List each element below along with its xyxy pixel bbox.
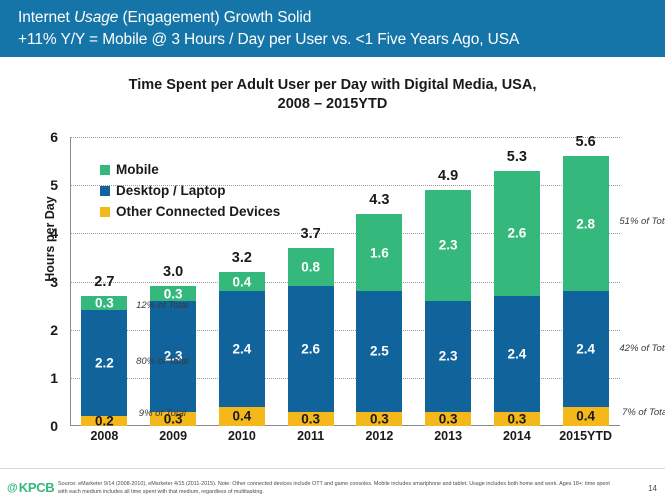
kpcb-wordmark: KPCB	[19, 480, 55, 495]
bar-segment-mobile[interactable]: 2.3	[425, 190, 471, 301]
bar-segment-other[interactable]: 0.3	[288, 412, 334, 426]
x-axis-tick-label: 2012	[344, 429, 414, 443]
legend-swatch-other-icon	[100, 207, 110, 217]
bar-segment-other[interactable]: 0.4	[219, 407, 265, 426]
chart-legend: Mobile Desktop / Laptop Other Connected …	[100, 159, 280, 222]
bar-segment-value: 2.4	[494, 347, 540, 361]
x-axis-tick-label: 2015YTD	[551, 429, 621, 443]
legend-swatch-desktop-icon	[100, 186, 110, 196]
bar-segment-mobile[interactable]: 2.8	[563, 156, 609, 291]
bar-total-label: 2.7	[69, 274, 139, 290]
bar-group[interactable]: 2.62.40.3	[494, 171, 540, 426]
source-footnote: Source: eMarketer 9/14 (2008-2010), eMar…	[58, 480, 614, 496]
bar-segment-desktop[interactable]: 2.4	[219, 291, 265, 407]
bar-total-label: 4.9	[413, 168, 483, 184]
annotation-left: 12% of Total	[131, 300, 193, 311]
bar-segment-value: 2.3	[425, 349, 471, 363]
page-number: 14	[648, 484, 657, 493]
x-axis-tick-label: 2009	[138, 429, 208, 443]
bar-segment-mobile[interactable]: 0.4	[219, 272, 265, 291]
bar-segment-value: 0.4	[219, 410, 265, 424]
bar-group[interactable]: 0.32.20.2	[81, 296, 127, 426]
legend-label-other: Other Connected Devices	[116, 204, 280, 219]
y-axis-tick-label: 6	[38, 129, 58, 145]
bar-segment-mobile[interactable]: 0.3	[81, 296, 127, 310]
legend-item-other: Other Connected Devices	[100, 201, 280, 222]
bar-total-label: 5.3	[482, 149, 552, 165]
y-axis-tick-label: 0	[38, 418, 58, 434]
bar-segment-other[interactable]: 0.3	[356, 412, 402, 426]
bar-segment-value: 2.6	[288, 342, 334, 356]
header-line-2: +11% Y/Y = Mobile @ 3 Hours / Day per Us…	[18, 29, 665, 51]
at-symbol-icon: @	[7, 482, 18, 494]
legend-item-mobile: Mobile	[100, 159, 280, 180]
y-axis-tick-label: 3	[38, 274, 58, 290]
footer-divider	[0, 468, 665, 469]
chart-title-line-2: 2008 – 2015YTD	[0, 95, 665, 114]
bar-segment-value: 2.3	[425, 239, 471, 253]
bar-segment-value: 2.4	[563, 342, 609, 356]
x-axis-tick-label: 2011	[276, 429, 346, 443]
bar-segment-desktop[interactable]: 2.6	[288, 286, 334, 411]
gridline	[70, 137, 620, 138]
x-axis-tick-label: 2013	[413, 429, 483, 443]
bar-total-label: 3.0	[138, 264, 208, 280]
y-axis-tick-label: 1	[38, 370, 58, 386]
bar-group[interactable]: 2.82.40.4	[563, 156, 609, 426]
bar-total-label: 5.6	[551, 134, 621, 150]
x-axis-tick-label: 2010	[207, 429, 277, 443]
annotation-right: 7% of Total	[615, 407, 665, 418]
y-axis-tick-label: 4	[38, 225, 58, 241]
legend-item-desktop: Desktop / Laptop	[100, 180, 280, 201]
bar-segment-desktop[interactable]: 2.4	[494, 296, 540, 412]
x-axis-tick-label: 2008	[69, 429, 139, 443]
bar-segment-value: 0.3	[81, 296, 127, 310]
chart-title: Time Spent per Adult User per Day with D…	[0, 76, 665, 114]
legend-label-mobile: Mobile	[116, 162, 159, 177]
bar-segment-desktop[interactable]: 2.5	[356, 291, 402, 411]
annotation-right: 42% of Total	[615, 343, 665, 354]
bar-segment-value: 2.8	[563, 217, 609, 231]
bar-segment-other[interactable]: 0.4	[563, 407, 609, 426]
bar-segment-desktop[interactable]: 2.3	[425, 301, 471, 412]
bar-segment-value: 0.3	[288, 412, 334, 426]
header-line-1: Internet Usage (Engagement) Growth Solid	[18, 7, 665, 29]
bar-segment-value: 2.6	[494, 227, 540, 241]
annotation-left: 80% of Total	[131, 356, 193, 367]
bar-segment-value: 2.2	[81, 357, 127, 371]
annotation-right: 51% of Total	[615, 216, 665, 227]
x-axis-tick-label: 2014	[482, 429, 552, 443]
bar-group[interactable]: 0.82.60.3	[288, 248, 334, 426]
bar-total-label: 4.3	[344, 192, 414, 208]
bar-segment-mobile[interactable]: 0.8	[288, 248, 334, 287]
bar-group[interactable]: 2.32.30.3	[425, 190, 471, 426]
bar-segment-value: 1.6	[356, 246, 402, 260]
y-axis-tick-label: 5	[38, 177, 58, 193]
header-line1-post: (Engagement) Growth Solid	[118, 9, 311, 26]
bar-segment-desktop[interactable]: 2.2	[81, 310, 127, 416]
header-line1-pre: Internet	[18, 9, 74, 26]
slide-header-banner: Internet Usage (Engagement) Growth Solid…	[0, 0, 665, 57]
bar-segment-value: 0.3	[494, 412, 540, 426]
annotation-left: 9% of Total	[131, 408, 193, 419]
bar-segment-mobile[interactable]: 0.3	[150, 286, 196, 300]
bar-segment-value: 0.3	[425, 412, 471, 426]
bar-segment-mobile[interactable]: 2.6	[494, 171, 540, 296]
bar-segment-value: 2.4	[219, 342, 265, 356]
bar-segment-desktop[interactable]: 2.4	[563, 291, 609, 407]
chart-plot-area: Mobile Desktop / Laptop Other Connected …	[70, 137, 620, 426]
bar-segment-value: 0.3	[150, 287, 196, 301]
y-axis-tick-label: 2	[38, 322, 58, 338]
chart-title-line-1: Time Spent per Adult User per Day with D…	[0, 76, 665, 95]
bar-segment-value: 0.8	[288, 260, 334, 274]
legend-swatch-mobile-icon	[100, 165, 110, 175]
bar-segment-value: 0.3	[356, 412, 402, 426]
bar-segment-value: 0.4	[219, 275, 265, 289]
bar-segment-value: 0.4	[563, 410, 609, 424]
bar-segment-other[interactable]: 0.3	[494, 412, 540, 426]
header-line1-emphasis: Usage	[74, 9, 118, 26]
bar-total-label: 3.2	[207, 250, 277, 266]
bar-segment-other[interactable]: 0.2	[81, 416, 127, 426]
bar-total-label: 3.7	[276, 226, 346, 242]
bar-segment-value: 2.5	[356, 345, 402, 359]
bar-group[interactable]: 0.42.40.4	[219, 272, 265, 426]
kpcb-logo: @ KPCB	[7, 480, 54, 495]
bar-segment-mobile[interactable]: 1.6	[356, 214, 402, 291]
bar-segment-value: 0.2	[81, 414, 127, 428]
bar-segment-other[interactable]: 0.3	[425, 412, 471, 426]
bar-group[interactable]: 1.62.50.3	[356, 214, 402, 426]
